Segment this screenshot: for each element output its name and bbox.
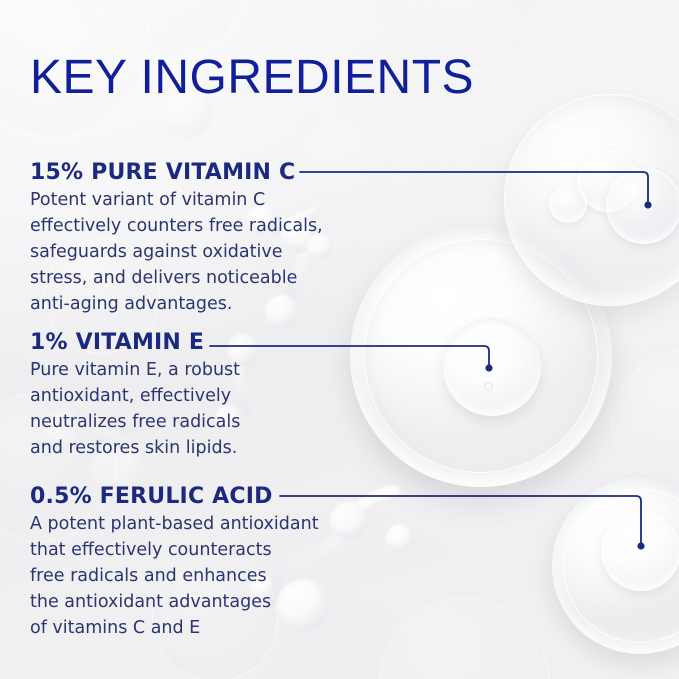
ingredient-description: Potent variant of vitamin C effectively … — [30, 187, 323, 317]
ingredient-block-ferulic-acid: 0.5% FERULIC ACID A potent plant-based a… — [30, 484, 319, 641]
page-title: KEY INGREDIENTS — [30, 50, 474, 105]
description-line: and restores skin lipids. — [30, 435, 240, 461]
description-line: the antioxidant advantages — [30, 589, 319, 615]
description-line: of vitamins C and E — [30, 615, 319, 641]
description-line: A potent plant-based antioxidant — [30, 511, 319, 537]
ingredient-description: A potent plant-based antioxidant that ef… — [30, 511, 319, 641]
ingredient-heading: 1% VITAMIN E — [30, 330, 240, 355]
description-line: Pure vitamin E, a robust — [30, 357, 240, 383]
ingredient-description: Pure vitamin E, a robust antioxidant, ef… — [30, 357, 240, 461]
leader-line-vitamin-e — [210, 346, 489, 365]
ingredient-heading: 0.5% FERULIC ACID — [30, 484, 319, 509]
leader-line-ferulic-acid — [280, 496, 641, 544]
description-line: stress, and delivers noticeable — [30, 265, 323, 291]
description-line: anti-aging advantages. — [30, 291, 323, 317]
description-line: Potent variant of vitamin C — [30, 187, 323, 213]
ingredient-heading: 15% PURE VITAMIN C — [30, 160, 323, 185]
leader-endpoint-ferulic-acid — [637, 542, 644, 549]
ingredient-block-vitamin-c: 15% PURE VITAMIN C Potent variant of vit… — [30, 160, 323, 317]
ingredient-block-vitamin-e: 1% VITAMIN E Pure vitamin E, a robust an… — [30, 330, 240, 461]
description-line: free radicals and enhances — [30, 563, 319, 589]
description-line: neutralizes free radicals — [30, 409, 240, 435]
description-line: effectively counters free radicals, — [30, 213, 323, 239]
description-line: that effectively counteracts — [30, 537, 319, 563]
leader-endpoint-vitamin-c — [644, 201, 651, 208]
leader-endpoint-vitamin-e — [485, 364, 492, 371]
description-line: antioxidant, effectively — [30, 383, 240, 409]
leader-line-vitamin-c — [300, 172, 648, 203]
infographic-canvas: KEY INGREDIENTS 15% PURE VITAMIN C Poten… — [0, 0, 679, 679]
description-line: safeguards against oxidative — [30, 239, 323, 265]
